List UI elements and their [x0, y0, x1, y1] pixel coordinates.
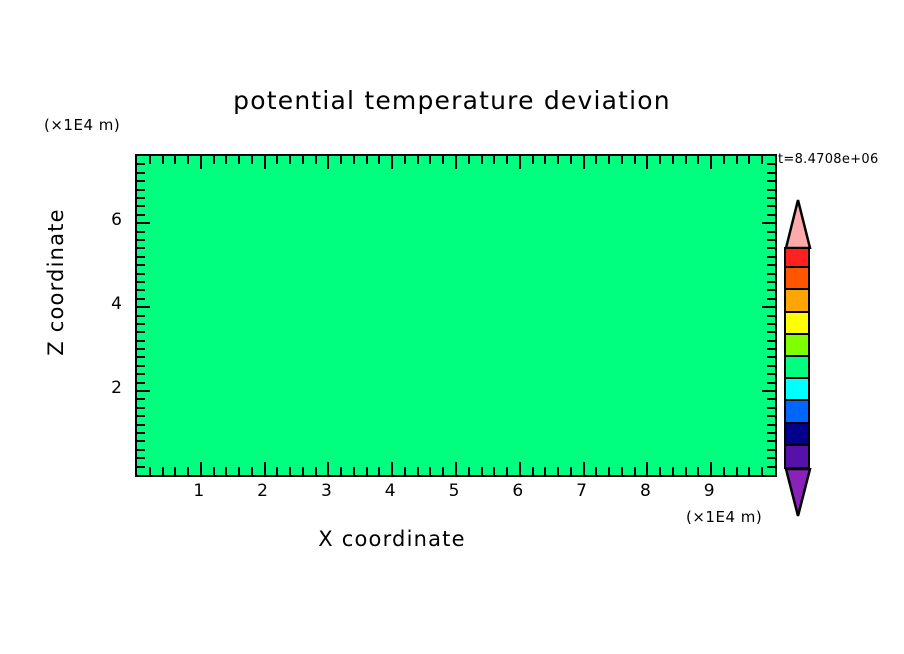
colorbar-band [786, 378, 808, 400]
colorbar-separator [786, 444, 808, 446]
y-axis-tick [767, 449, 775, 451]
y-axis-tick [137, 356, 145, 358]
y-axis-title: Z coordinate [44, 182, 68, 382]
x-axis-tick [761, 467, 763, 475]
x-axis-tick [685, 467, 687, 475]
x-axis-tick [264, 462, 266, 475]
y-axis-tick [767, 298, 775, 300]
x-axis-tick [761, 156, 763, 164]
y-axis-tick [767, 415, 775, 417]
y-axis-tick [137, 440, 145, 442]
x-axis-tick [736, 467, 738, 475]
x-axis-tick [710, 156, 712, 169]
x-tick-label: 6 [498, 481, 538, 501]
x-axis-tick [723, 156, 725, 164]
y-axis-tick [137, 466, 145, 468]
figure-root: potential temperature deviation (×1E4 m)… [0, 0, 904, 654]
y-axis-tick [767, 466, 775, 468]
y-axis-tick [767, 407, 775, 409]
x-tick-label: 4 [370, 481, 410, 501]
x-axis-tick [481, 467, 483, 475]
x-axis-tick [506, 156, 508, 164]
x-axis-tick [327, 156, 329, 169]
y-axis-tick [137, 348, 145, 350]
colorbar-separator [786, 266, 808, 268]
colorbar-band [786, 289, 808, 311]
y-axis-tick [137, 205, 145, 207]
x-axis-tick [544, 467, 546, 475]
y-axis-tick [762, 306, 775, 308]
x-axis-tick [748, 156, 750, 164]
y-axis-tick [767, 398, 775, 400]
x-axis-tick [366, 156, 368, 164]
x-axis-tick [213, 467, 215, 475]
y-axis-tick [767, 281, 775, 283]
y-axis-tick [137, 281, 145, 283]
y-axis-tick [137, 180, 145, 182]
y-axis-tick [767, 180, 775, 182]
y-axis-tick [767, 239, 775, 241]
x-axis-tick [519, 156, 521, 169]
x-axis-tick [506, 467, 508, 475]
y-axis-tick [137, 163, 145, 165]
x-axis-tick [429, 156, 431, 164]
x-tick-label: 7 [562, 481, 602, 501]
x-axis-tick [366, 467, 368, 475]
x-axis-tick [493, 156, 495, 164]
x-axis-tick [583, 156, 585, 169]
x-axis-tick [187, 156, 189, 164]
y-axis-tick [137, 172, 145, 174]
x-axis-unit-label: (×1E4 m) [686, 508, 762, 526]
colorbar-over-arrow [783, 198, 813, 249]
x-axis-tick [404, 156, 406, 164]
y-axis-tick [767, 197, 775, 199]
y-axis-tick [137, 306, 150, 308]
y-axis-tick [137, 298, 145, 300]
y-axis-tick [767, 440, 775, 442]
y-axis-tick [767, 365, 775, 367]
x-axis-tick [213, 156, 215, 164]
y-axis-tick [767, 356, 775, 358]
x-axis-tick [519, 462, 521, 475]
x-axis-tick [340, 156, 342, 164]
x-axis-tick [557, 467, 559, 475]
x-axis-tick [276, 467, 278, 475]
x-axis-tick [353, 156, 355, 164]
y-axis-tick [137, 424, 145, 426]
y-axis-tick [137, 273, 145, 275]
x-axis-tick [532, 156, 534, 164]
x-axis-tick [455, 462, 457, 475]
y-axis-tick [137, 365, 145, 367]
x-axis-tick [634, 156, 636, 164]
y-axis-tick [137, 323, 145, 325]
y-axis-tick [767, 331, 775, 333]
x-axis-tick [200, 462, 202, 475]
x-axis-tick [748, 467, 750, 475]
x-axis-tick [225, 156, 227, 164]
y-axis-tick [137, 222, 150, 224]
x-axis-tick [697, 467, 699, 475]
x-axis-tick [417, 156, 419, 164]
x-axis-tick [162, 156, 164, 164]
y-axis-tick [767, 273, 775, 275]
x-axis-tick [595, 156, 597, 164]
x-axis-tick [353, 467, 355, 475]
colorbar-separator [786, 311, 808, 313]
x-axis-tick [429, 467, 431, 475]
x-axis-tick [238, 467, 240, 475]
x-axis-tick [583, 462, 585, 475]
x-axis-tick [149, 467, 151, 475]
x-axis-tick [595, 467, 597, 475]
x-axis-tick [442, 156, 444, 164]
z-axis-unit-label: (×1E4 m) [44, 116, 120, 134]
contour-field [137, 156, 775, 475]
x-tick-label: 5 [434, 481, 474, 501]
colorbar-separator [786, 288, 808, 290]
x-axis-tick [455, 156, 457, 169]
x-axis-tick [659, 156, 661, 164]
x-axis-tick [570, 156, 572, 164]
y-axis-tick [137, 289, 145, 291]
colorbar-separator [786, 355, 808, 357]
x-axis-tick [672, 156, 674, 164]
x-axis-tick [659, 467, 661, 475]
colorbar-band [786, 267, 808, 289]
y-axis-tick [137, 390, 150, 392]
y-axis-tick [137, 239, 145, 241]
colorbar [783, 198, 813, 518]
y-axis-tick [767, 340, 775, 342]
y-axis-tick [137, 457, 145, 459]
y-axis-tick [767, 323, 775, 325]
y-axis-tick [767, 264, 775, 266]
y-axis-tick [767, 172, 775, 174]
y-axis-tick [137, 415, 145, 417]
y-axis-tick [137, 331, 145, 333]
x-axis-tick [378, 156, 380, 164]
y-axis-tick [137, 432, 145, 434]
y-axis-tick [137, 382, 145, 384]
x-axis-tick [251, 156, 253, 164]
colorbar-under-arrow [783, 468, 813, 518]
x-axis-tick [621, 467, 623, 475]
x-tick-label: 1 [179, 481, 219, 501]
y-axis-tick [767, 256, 775, 258]
y-axis-tick [767, 189, 775, 191]
x-axis-tick [289, 156, 291, 164]
y-axis-tick [762, 222, 775, 224]
x-tick-label: 8 [625, 481, 665, 501]
y-axis-tick [762, 390, 775, 392]
x-axis-tick [442, 467, 444, 475]
x-tick-label: 3 [306, 481, 346, 501]
x-axis-tick [302, 467, 304, 475]
x-tick-label: 9 [689, 481, 729, 501]
colorbar-separator [786, 333, 808, 335]
x-axis-tick [736, 156, 738, 164]
x-axis-tick [557, 156, 559, 164]
time-annotation: t=8.4708e+06 [778, 152, 879, 167]
colorbar-band [786, 312, 808, 334]
y-axis-tick [767, 231, 775, 233]
y-axis-tick [137, 315, 145, 317]
y-axis-tick [767, 163, 775, 165]
x-axis-tick [302, 156, 304, 164]
x-axis-tick [225, 467, 227, 475]
colorbar-band [786, 445, 808, 467]
x-axis-tick [276, 156, 278, 164]
y-axis-tick [137, 449, 145, 451]
x-axis-tick [710, 462, 712, 475]
x-axis-tick [315, 156, 317, 164]
x-axis-tick [251, 467, 253, 475]
x-axis-tick [672, 467, 674, 475]
y-axis-tick [137, 189, 145, 191]
x-axis-tick [404, 467, 406, 475]
x-axis-tick [723, 467, 725, 475]
x-axis-tick [468, 467, 470, 475]
y-axis-tick [137, 340, 145, 342]
x-axis-tick [289, 467, 291, 475]
y-tick-label: 6 [96, 210, 122, 230]
x-axis-tick [634, 467, 636, 475]
x-axis-tick [417, 467, 419, 475]
colorbar-body [784, 247, 810, 469]
x-axis-tick [481, 156, 483, 164]
x-axis-tick [570, 467, 572, 475]
x-axis-tick [162, 467, 164, 475]
x-axis-tick [608, 467, 610, 475]
colorbar-separator [786, 377, 808, 379]
colorbar-band [786, 423, 808, 445]
x-axis-tick [532, 467, 534, 475]
y-axis-tick [767, 382, 775, 384]
y-tick-label: 4 [96, 294, 122, 314]
x-axis-tick [468, 156, 470, 164]
y-axis-tick [767, 457, 775, 459]
x-axis-tick [378, 467, 380, 475]
x-axis-tick [697, 156, 699, 164]
y-axis-tick [767, 214, 775, 216]
y-axis-tick [137, 197, 145, 199]
y-axis-tick [137, 407, 145, 409]
plot-area [135, 154, 777, 477]
colorbar-separator [786, 399, 808, 401]
y-axis-tick [767, 315, 775, 317]
x-axis-tick [544, 156, 546, 164]
y-axis-tick [137, 264, 145, 266]
x-axis-tick [646, 462, 648, 475]
x-axis-tick [340, 467, 342, 475]
y-axis-tick [767, 289, 775, 291]
x-axis-tick [264, 156, 266, 169]
x-axis-tick [174, 467, 176, 475]
x-axis-tick [493, 467, 495, 475]
y-axis-tick [137, 214, 145, 216]
y-axis-tick [767, 205, 775, 207]
colorbar-band [786, 400, 808, 422]
colorbar-separator [786, 422, 808, 424]
y-axis-tick [137, 256, 145, 258]
y-axis-tick [767, 348, 775, 350]
x-axis-tick [315, 467, 317, 475]
x-axis-tick [646, 156, 648, 169]
colorbar-band [786, 334, 808, 356]
x-axis-tick [327, 462, 329, 475]
x-tick-label: 2 [243, 481, 283, 501]
x-axis-tick [621, 156, 623, 164]
x-axis-tick [174, 156, 176, 164]
page-title: potential temperature deviation [0, 86, 904, 115]
colorbar-band [786, 356, 808, 378]
x-axis-tick [685, 156, 687, 164]
y-axis-tick [767, 373, 775, 375]
x-axis-tick [391, 156, 393, 169]
x-axis-tick [238, 156, 240, 164]
y-axis-tick [137, 398, 145, 400]
y-axis-tick [137, 373, 145, 375]
y-axis-tick [767, 424, 775, 426]
x-axis-tick [200, 156, 202, 169]
x-axis-tick [608, 156, 610, 164]
y-axis-tick [137, 247, 145, 249]
y-tick-label: 2 [96, 378, 122, 398]
x-axis-tick [391, 462, 393, 475]
y-axis-tick [767, 432, 775, 434]
x-axis-tick [187, 467, 189, 475]
y-axis-tick [137, 231, 145, 233]
y-axis-tick [767, 247, 775, 249]
x-axis-title: X coordinate [0, 527, 904, 551]
x-axis-tick [149, 156, 151, 164]
